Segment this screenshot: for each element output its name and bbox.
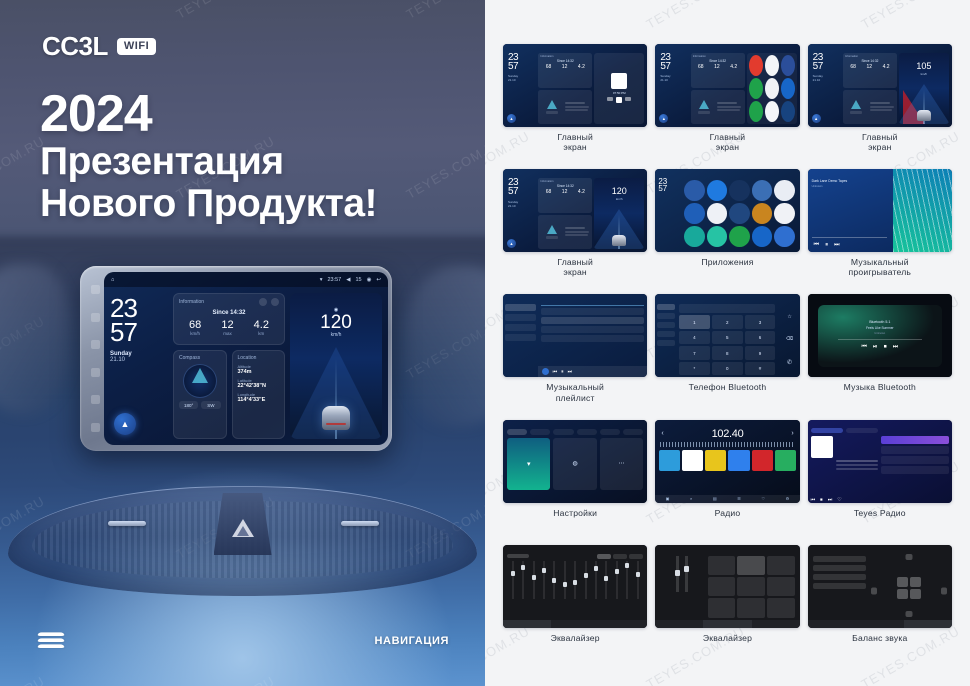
eq-slider[interactable] bbox=[560, 561, 569, 599]
playlist-row[interactable] bbox=[541, 335, 645, 342]
mini-information-card[interactable]: Information Since 14:32 68 12 4.2 bbox=[843, 53, 897, 88]
eq-slider-handle bbox=[573, 580, 577, 585]
status-bar-right: ▾ 23:57 ◀ 15 ◉ ↩ bbox=[320, 277, 381, 283]
app-icon[interactable] bbox=[729, 203, 749, 224]
settings-cards: ▾ ◍ ⋯ bbox=[503, 438, 647, 490]
sidebar-item[interactable] bbox=[505, 304, 536, 311]
speaker-icon bbox=[910, 577, 921, 587]
eq-slider[interactable] bbox=[612, 561, 621, 599]
player-info: Dark Lane Demo Tapes Unknown ⏮ ⏸ ⏭ bbox=[808, 169, 893, 252]
screen-thumbnail[interactable] bbox=[503, 545, 647, 628]
app-icon[interactable] bbox=[752, 180, 772, 201]
mini-location-card[interactable] bbox=[565, 217, 590, 248]
app-icon[interactable] bbox=[684, 203, 704, 224]
equalizer-presets-screen[interactable] bbox=[655, 545, 799, 628]
app-icon[interactable] bbox=[684, 226, 704, 247]
eq-preset-button[interactable] bbox=[597, 554, 611, 559]
eq-slider[interactable] bbox=[570, 561, 579, 599]
screen-caption: Teyes Радио bbox=[854, 508, 906, 518]
balance-preset[interactable] bbox=[813, 565, 866, 571]
lower-widgets: Compass 180° SW Location bbox=[173, 350, 285, 439]
head-unit-side-buttons[interactable] bbox=[86, 276, 104, 441]
screen-caption: Главный экран bbox=[710, 132, 746, 152]
bluetooth-music-screen[interactable]: Bluetooth 5.1 Feels Like Summer Unknown … bbox=[808, 294, 952, 377]
compass-heading-cone bbox=[851, 100, 861, 109]
screen-caption: Главный экран bbox=[557, 132, 593, 152]
app-icon[interactable] bbox=[752, 203, 772, 224]
dial-key[interactable]: 7 bbox=[679, 346, 710, 360]
eq-slider[interactable] bbox=[591, 561, 600, 599]
eq-slider[interactable] bbox=[508, 561, 517, 599]
fav-icon[interactable]: ♡ bbox=[761, 496, 765, 501]
teyes-radio-screen[interactable]: ⏮⏹⏭♡ bbox=[808, 420, 952, 503]
information-card[interactable]: Information Since 14:32 68 km/h bbox=[173, 293, 285, 345]
eq-tab[interactable] bbox=[503, 620, 551, 628]
next-icon[interactable]: ⏭ bbox=[893, 344, 898, 351]
mini-clock-sub: Sunday21.10 bbox=[508, 200, 536, 208]
mini-information-card[interactable]: Information Since 14:32 68 12 4.2 bbox=[538, 53, 592, 88]
mini-compass-card[interactable] bbox=[693, 92, 716, 123]
mini-clock-widget: 23 57 Sunday21.10 ▲ bbox=[506, 178, 536, 249]
app-icon[interactable] bbox=[707, 203, 727, 224]
station-preset[interactable] bbox=[775, 450, 796, 471]
gallery-item[interactable]: Bluetooth 5.1 Feels Like Summer Unknown … bbox=[808, 294, 952, 413]
eq-preset-tile[interactable] bbox=[708, 577, 736, 596]
eq-tabs[interactable] bbox=[503, 620, 647, 628]
pause-icon[interactable]: ⏸ bbox=[825, 242, 828, 249]
app-icon[interactable] bbox=[765, 78, 779, 99]
dial-key[interactable]: 8 bbox=[712, 346, 743, 360]
settings-tab[interactable] bbox=[553, 429, 573, 435]
eq-slider[interactable] bbox=[622, 561, 631, 599]
home-icon[interactable]: ⌂ bbox=[111, 277, 114, 283]
playlist-tabs[interactable] bbox=[541, 302, 645, 306]
app-icon[interactable] bbox=[707, 180, 727, 201]
eq-slider-handle bbox=[521, 565, 525, 570]
dial-key[interactable]: 4 bbox=[679, 331, 710, 345]
next-icon[interactable] bbox=[625, 97, 631, 101]
app-icon[interactable] bbox=[781, 55, 795, 76]
mini-card-title: Information bbox=[540, 180, 590, 183]
screen-caption: Радио bbox=[715, 508, 741, 518]
mini-widget-column: Information Since 14:32 68 12 4.2 bbox=[843, 53, 897, 124]
apps-clock: 2357 bbox=[658, 178, 680, 249]
app-icon[interactable] bbox=[774, 226, 794, 247]
dial-key[interactable]: # bbox=[745, 362, 776, 376]
stop-icon[interactable]: ⏹ bbox=[820, 497, 823, 503]
hazard-button-pod[interactable] bbox=[214, 493, 272, 555]
sidebar-item[interactable] bbox=[657, 322, 675, 328]
sidebar-item[interactable] bbox=[505, 314, 536, 321]
gallery-item[interactable]: 2357 Приложения bbox=[655, 169, 799, 288]
app-icon[interactable] bbox=[729, 226, 749, 247]
mini-media-widget[interactable]: 07:50 PM bbox=[594, 53, 644, 124]
stop-icon[interactable]: ⏹ bbox=[884, 344, 887, 351]
navigation-arrow-icon[interactable]: ▲ bbox=[812, 114, 821, 123]
backspace-icon[interactable]: ⌫ bbox=[786, 336, 793, 342]
app-icon[interactable] bbox=[765, 55, 779, 76]
mini-home-screen[interactable]: 23 57 Sunday21.10 ▲ Information Since 14… bbox=[808, 44, 952, 127]
gallery-item[interactable]: ‹ 102.40 › ▣⌕▤☰♡⚙ Радио bbox=[655, 420, 799, 539]
eq-icon[interactable]: ▤ bbox=[713, 496, 717, 501]
balance-tab[interactable] bbox=[808, 620, 856, 628]
next-icon[interactable]: ⏭ bbox=[568, 369, 573, 375]
screen-thumbnail[interactable]: 123456789*0# ☆ ⌫ ✆ bbox=[655, 294, 799, 377]
back-icon[interactable]: ↩ bbox=[376, 277, 381, 283]
dial-key[interactable]: 5 bbox=[712, 331, 743, 345]
stat-item: 4.2 km bbox=[254, 319, 269, 336]
side-button-mute[interactable] bbox=[91, 423, 100, 432]
screen-caption: Главный экран bbox=[557, 257, 593, 277]
eq-preset-tile[interactable] bbox=[708, 556, 736, 575]
mini-player-bar[interactable]: ⏮ ⏸ ⏭ bbox=[538, 366, 648, 377]
search-icon[interactable]: ⌕ bbox=[690, 496, 692, 501]
eq-preset-tile[interactable] bbox=[767, 556, 795, 575]
navigation-arrow-icon[interactable]: ▲ bbox=[659, 114, 668, 123]
dial-key[interactable]: 0 bbox=[712, 362, 743, 376]
number-field[interactable] bbox=[679, 304, 775, 313]
mini-drive-panel[interactable]: 105 km/h bbox=[899, 53, 949, 124]
mini-compass-card[interactable] bbox=[845, 92, 868, 123]
right-button[interactable] bbox=[941, 587, 947, 594]
mini-location-card[interactable] bbox=[565, 92, 590, 123]
side-button-home[interactable] bbox=[91, 313, 100, 322]
eq-preset-tile[interactable] bbox=[767, 598, 795, 617]
station-preset[interactable] bbox=[682, 450, 703, 471]
app-icon[interactable] bbox=[749, 78, 763, 99]
speaker-icon bbox=[897, 577, 908, 587]
station-preset[interactable] bbox=[659, 450, 680, 471]
radio-toolbar[interactable]: ▣⌕▤☰♡⚙ bbox=[655, 495, 799, 503]
screen-thumbnail[interactable] bbox=[808, 545, 952, 628]
compass-heading-cone bbox=[547, 225, 557, 234]
prev-icon[interactable]: ⏮ bbox=[811, 497, 816, 503]
mini-speed-value: 120 bbox=[594, 187, 644, 196]
apps-screen[interactable]: 2357 bbox=[655, 169, 799, 252]
settings-tab[interactable] bbox=[623, 429, 643, 435]
music-player-screen[interactable]: Dark Lane Demo Tapes Unknown ⏮ ⏸ ⏭ bbox=[808, 169, 952, 252]
playlist-sidebar[interactable] bbox=[503, 302, 538, 377]
fav-icon[interactable]: ♡ bbox=[837, 497, 841, 503]
progress-bar[interactable] bbox=[812, 237, 887, 238]
eq-slider-handle bbox=[636, 572, 640, 577]
dialer-sidebar[interactable] bbox=[655, 302, 677, 377]
location-card-title: Location bbox=[238, 355, 280, 361]
navigation-arrow-icon[interactable]: ▲ bbox=[507, 239, 516, 248]
compass-direction: SW bbox=[201, 401, 220, 409]
compass-heading-cone bbox=[547, 100, 557, 109]
playlist-screen[interactable]: ⏮ ⏸ ⏭ bbox=[503, 294, 647, 377]
eq-preset-button[interactable] bbox=[629, 554, 643, 559]
location-card[interactable]: Location Altitude 374m Latitude 22°42'38… bbox=[232, 350, 286, 439]
sidebar-item[interactable] bbox=[657, 331, 675, 337]
app-icon[interactable] bbox=[749, 101, 763, 122]
eq-slider[interactable] bbox=[529, 561, 538, 599]
dashboard-left-trim bbox=[0, 264, 70, 414]
station-row[interactable] bbox=[881, 436, 949, 444]
playlist-row[interactable] bbox=[541, 317, 645, 324]
mini-location-card[interactable] bbox=[717, 92, 742, 123]
eq-slider[interactable] bbox=[581, 561, 590, 599]
play-icon[interactable] bbox=[616, 97, 622, 103]
bluetooth-dialer-screen[interactable]: 123456789*0# ☆ ⌫ ✆ bbox=[655, 294, 799, 377]
fader[interactable] bbox=[676, 556, 679, 592]
eq-slider-handle bbox=[532, 575, 536, 580]
hotspot-icon[interactable]: ◍ bbox=[553, 438, 596, 490]
compass-card[interactable]: Compass 180° SW bbox=[173, 350, 227, 439]
gallery-item[interactable]: 23 57 Sunday21.10 ▲ Information Since 14… bbox=[503, 169, 647, 288]
mini-home-screen[interactable]: 23 57 Sunday21.10 ▲ Information Since 14… bbox=[503, 44, 647, 127]
prev-icon[interactable]: ⏮ bbox=[553, 369, 558, 375]
mini-compass-card[interactable] bbox=[540, 217, 563, 248]
app-icon[interactable] bbox=[774, 180, 794, 201]
mini-information-card[interactable]: Information Since 14:32 68 12 4.2 bbox=[538, 178, 592, 213]
screen-thumbnail[interactable] bbox=[655, 545, 799, 628]
station-row[interactable] bbox=[881, 446, 949, 454]
settings-tab[interactable] bbox=[530, 429, 550, 435]
dial-key[interactable]: 1 bbox=[679, 315, 710, 328]
station-preset[interactable] bbox=[752, 450, 773, 471]
prev-icon[interactable] bbox=[607, 97, 613, 101]
app-icon[interactable] bbox=[707, 226, 727, 247]
head-unit-screen[interactable]: ⌂ ▾ 23:57 ◀ 15 ◉ ↩ 23 57 Sunday bbox=[104, 272, 388, 445]
eq-slider[interactable] bbox=[602, 561, 611, 599]
dialer-actions: ☆ ⌫ ✆ bbox=[779, 302, 799, 377]
playlist-body: ⏮ ⏸ ⏭ bbox=[538, 302, 648, 377]
balance-preset[interactable] bbox=[813, 574, 866, 580]
prev-icon[interactable]: ⏮ bbox=[862, 344, 867, 351]
refresh-icon[interactable] bbox=[271, 298, 279, 306]
mini-information-card[interactable]: Information Since 14:32 68 12 4.2 bbox=[691, 53, 745, 88]
radio-frequency: 102.40 bbox=[712, 428, 744, 440]
gallery-item[interactable]: 23 57 Sunday21.10 ▲ Information Since 14… bbox=[808, 44, 952, 163]
mini-app-shortcuts[interactable] bbox=[747, 53, 797, 124]
dial-key[interactable]: 6 bbox=[745, 331, 776, 345]
gallery-item[interactable]: Баланс звука bbox=[808, 545, 952, 664]
screen-thumbnail[interactable]: Dark Lane Demo Tapes Unknown ⏮ ⏸ ⏭ bbox=[808, 169, 952, 252]
station-preset[interactable] bbox=[728, 450, 749, 471]
gallery-item[interactable]: Эквалайзер bbox=[503, 545, 647, 664]
pause-icon[interactable]: ⏸ bbox=[561, 369, 564, 375]
app-icon[interactable] bbox=[749, 55, 763, 76]
call-icon[interactable]: ✆ bbox=[787, 359, 792, 366]
eq-preset-button[interactable] bbox=[613, 554, 627, 559]
next-icon[interactable]: ⏭ bbox=[834, 242, 839, 249]
eq-preset-tile[interactable] bbox=[737, 556, 765, 575]
dial-key[interactable]: 3 bbox=[745, 315, 776, 328]
next-icon[interactable]: ⏭ bbox=[828, 497, 833, 503]
screen-thumbnail[interactable]: ‹ 102.40 › ▣⌕▤☰♡⚙ bbox=[655, 420, 799, 503]
mini-home-screen[interactable]: 23 57 Sunday21.10 ▲ Information Since 14… bbox=[503, 169, 647, 252]
screen-thumbnail[interactable]: 2357 bbox=[655, 169, 799, 252]
gallery-item[interactable]: ⏮⏹⏭♡ Teyes Радио bbox=[808, 420, 952, 539]
mini-compass-card[interactable] bbox=[540, 92, 563, 123]
balance-pad[interactable] bbox=[871, 554, 947, 628]
gear-icon[interactable] bbox=[259, 298, 267, 306]
album-art bbox=[811, 436, 833, 458]
balance-tab[interactable] bbox=[904, 620, 952, 628]
balance-tabs[interactable] bbox=[808, 620, 952, 628]
gallery-item[interactable]: ⏮ ⏸ ⏭ Музыкальный плейлист bbox=[503, 294, 647, 413]
teyes-station-list[interactable] bbox=[881, 428, 949, 503]
rear-button[interactable] bbox=[905, 611, 912, 617]
teyes-chips[interactable] bbox=[811, 428, 879, 433]
gallery-item[interactable]: Dark Lane Demo Tapes Unknown ⏮ ⏸ ⏭ Музык… bbox=[808, 169, 952, 288]
eq-slider-handle bbox=[552, 578, 556, 583]
settings-icon[interactable]: ⚙ bbox=[786, 496, 790, 501]
headline-line-2: Нового Продукта! bbox=[40, 183, 377, 225]
eq-preset-tile[interactable] bbox=[737, 598, 765, 617]
drive-panel[interactable]: ◉ 120 km/h bbox=[290, 293, 382, 439]
prev-icon[interactable]: ⏮ bbox=[814, 242, 819, 249]
speed-value: 120 bbox=[290, 313, 382, 332]
eq-tab[interactable] bbox=[599, 620, 647, 628]
navigation-arrow-icon[interactable]: ▲ bbox=[507, 114, 516, 123]
car-graphic bbox=[612, 235, 626, 246]
play-pause-icon[interactable]: ⏯ bbox=[873, 344, 878, 351]
prev-station-icon[interactable]: ‹ bbox=[661, 430, 663, 437]
watermark-text: TEYES.COM.RU bbox=[485, 0, 532, 32]
sidebar-item[interactable] bbox=[657, 313, 675, 319]
eq-slider[interactable] bbox=[633, 561, 642, 599]
screen-caption: Телефон Bluetooth bbox=[689, 382, 767, 392]
mini-home-screen[interactable]: 23 57 Sunday21.10 ▲ Information Since 14… bbox=[655, 44, 799, 127]
playlist-row[interactable] bbox=[541, 326, 645, 333]
eq-preset-tile[interactable] bbox=[737, 577, 765, 596]
sidebar-item[interactable] bbox=[657, 340, 675, 346]
eq-slider[interactable] bbox=[518, 561, 527, 599]
settings-tab[interactable] bbox=[600, 429, 620, 435]
screen-thumbnail[interactable]: ▾ ◍ ⋯ bbox=[503, 420, 647, 503]
mini-location-card[interactable] bbox=[870, 92, 895, 123]
playlist-row[interactable] bbox=[541, 308, 645, 315]
app-icon[interactable] bbox=[729, 180, 749, 201]
balance-tab[interactable] bbox=[856, 620, 904, 628]
progress-bar[interactable] bbox=[838, 339, 922, 340]
station-row[interactable] bbox=[881, 456, 949, 464]
side-button-back[interactable] bbox=[91, 340, 100, 349]
star-icon[interactable]: ☆ bbox=[787, 314, 791, 320]
side-button-vol-up[interactable] bbox=[91, 368, 100, 377]
mini-lower-widgets bbox=[538, 90, 592, 125]
sidebar-item[interactable] bbox=[505, 324, 536, 331]
balance-preset[interactable] bbox=[813, 583, 866, 589]
sidebar-item[interactable] bbox=[657, 304, 675, 310]
eq-tab[interactable] bbox=[703, 620, 751, 628]
list-icon[interactable]: ☰ bbox=[737, 496, 741, 501]
settings-screen[interactable]: ▾ ◍ ⋯ bbox=[503, 420, 647, 503]
app-icon[interactable] bbox=[781, 78, 795, 99]
watermark-text: TEYES.COM.RU bbox=[404, 0, 485, 22]
volume-icon[interactable]: ◀ bbox=[346, 277, 350, 283]
eq-preset-tile[interactable] bbox=[708, 598, 736, 617]
more-icon[interactable]: ⋯ bbox=[600, 438, 643, 490]
media-time: 07:50 PM bbox=[613, 91, 626, 95]
eq-slider[interactable] bbox=[539, 561, 548, 599]
compass-card-title: Compass bbox=[179, 355, 221, 361]
eq-tab[interactable] bbox=[551, 620, 599, 628]
screen-thumbnail[interactable]: ⏮⏹⏭♡ bbox=[808, 420, 952, 503]
app-icon[interactable] bbox=[781, 101, 795, 122]
settings-tabs[interactable] bbox=[503, 429, 647, 438]
mini-drive-panel[interactable]: 120 km/h bbox=[594, 178, 644, 249]
gallery-item[interactable]: ▾ ◍ ⋯ Настройки bbox=[503, 420, 647, 539]
equalizer-screen[interactable] bbox=[503, 545, 647, 628]
eq-preset-tile[interactable] bbox=[767, 577, 795, 596]
eq-tab[interactable] bbox=[655, 620, 703, 628]
screen-thumbnail[interactable]: 23 57 Sunday21.10 ▲ Information Since 14… bbox=[503, 169, 647, 252]
settings-tab[interactable] bbox=[577, 429, 597, 435]
front-button[interactable] bbox=[905, 554, 912, 560]
gallery-item[interactable]: 123456789*0# ☆ ⌫ ✆ Телефон Bluetooth bbox=[655, 294, 799, 413]
balance-preset[interactable] bbox=[813, 556, 866, 562]
screen-caption: Музыкальный плейлист bbox=[546, 382, 604, 402]
next-station-icon[interactable]: › bbox=[791, 430, 793, 437]
transport-controls: ⏮ ⏸ ⏭ bbox=[814, 242, 840, 249]
left-button[interactable] bbox=[871, 587, 877, 594]
navigation-arrow-icon[interactable]: ▲ bbox=[114, 413, 136, 435]
gallery-item[interactable]: 23 57 Sunday21.10 ▲ Information Since 14… bbox=[503, 44, 647, 163]
screen-thumbnail[interactable]: 23 57 Sunday21.10 ▲ Information Since 14… bbox=[503, 44, 647, 127]
mini-widget-column: Information Since 14:32 68 12 4.2 bbox=[691, 53, 745, 124]
eq-slider-handle bbox=[584, 573, 588, 578]
app-icon[interactable] bbox=[752, 226, 772, 247]
sidebar-item[interactable] bbox=[505, 334, 536, 341]
station-preset[interactable] bbox=[705, 450, 726, 471]
assistant-icon[interactable]: ◉ bbox=[367, 277, 372, 283]
fader[interactable] bbox=[685, 556, 688, 592]
dial-key[interactable]: * bbox=[679, 362, 710, 376]
dial-key[interactable]: 2 bbox=[712, 315, 743, 328]
sound-balance-screen[interactable] bbox=[808, 545, 952, 628]
gallery-item[interactable]: Эквалайзер bbox=[655, 545, 799, 664]
clock-widget[interactable]: 23 57 Sunday 21.10 ▲ bbox=[110, 293, 168, 439]
vent-knob-right[interactable] bbox=[341, 521, 379, 526]
altitude-value: 374m bbox=[238, 369, 280, 375]
mini-drive-widget: 105 km/h bbox=[899, 53, 949, 124]
side-button-power[interactable] bbox=[91, 285, 100, 294]
app-icon[interactable] bbox=[765, 101, 779, 122]
side-button-vol-down[interactable] bbox=[91, 395, 100, 404]
mini-clock-minutes: 57 bbox=[508, 187, 536, 196]
radio-screen[interactable]: ‹ 102.40 › ▣⌕▤☰♡⚙ bbox=[655, 420, 799, 503]
screen-thumbnail[interactable]: 23 57 Sunday21.10 ▲ Information Since 14… bbox=[808, 44, 952, 127]
status-bar: ⌂ ▾ 23:57 ◀ 15 ◉ ↩ bbox=[104, 272, 388, 287]
vent-knob-left[interactable] bbox=[108, 521, 146, 526]
dial-key[interactable]: 9 bbox=[745, 346, 776, 360]
compass-heading-cone bbox=[699, 100, 709, 109]
eq-tabs[interactable] bbox=[655, 620, 799, 628]
eq-slider-handle bbox=[615, 569, 619, 574]
screen-thumbnail[interactable]: Bluetooth 5.1 Feels Like Summer Unknown … bbox=[808, 294, 952, 377]
wifi-icon[interactable]: ▾ bbox=[507, 438, 550, 490]
screen-thumbnail[interactable]: ⏮ ⏸ ⏭ bbox=[503, 294, 647, 377]
eq-tab[interactable] bbox=[752, 620, 800, 628]
eq-slider[interactable] bbox=[550, 561, 559, 599]
app-icon[interactable] bbox=[774, 203, 794, 224]
tuning-scale[interactable] bbox=[660, 442, 794, 447]
band-button[interactable]: ▣ bbox=[666, 496, 670, 501]
gallery-item[interactable]: 23 57 Sunday21.10 ▲ Information Since 14… bbox=[655, 44, 799, 163]
app-icon[interactable] bbox=[684, 180, 704, 201]
watermark-text: TEYES.COM.RU bbox=[644, 0, 748, 32]
screen-caption: Эквалайзер bbox=[703, 633, 752, 643]
station-row[interactable] bbox=[881, 466, 949, 474]
mini-since: Since 14:32 bbox=[540, 184, 590, 188]
settings-tab[interactable] bbox=[507, 429, 527, 435]
status-clock: 23:57 bbox=[327, 277, 341, 283]
screen-thumbnail[interactable]: 23 57 Sunday21.10 ▲ Information Since 14… bbox=[655, 44, 799, 127]
